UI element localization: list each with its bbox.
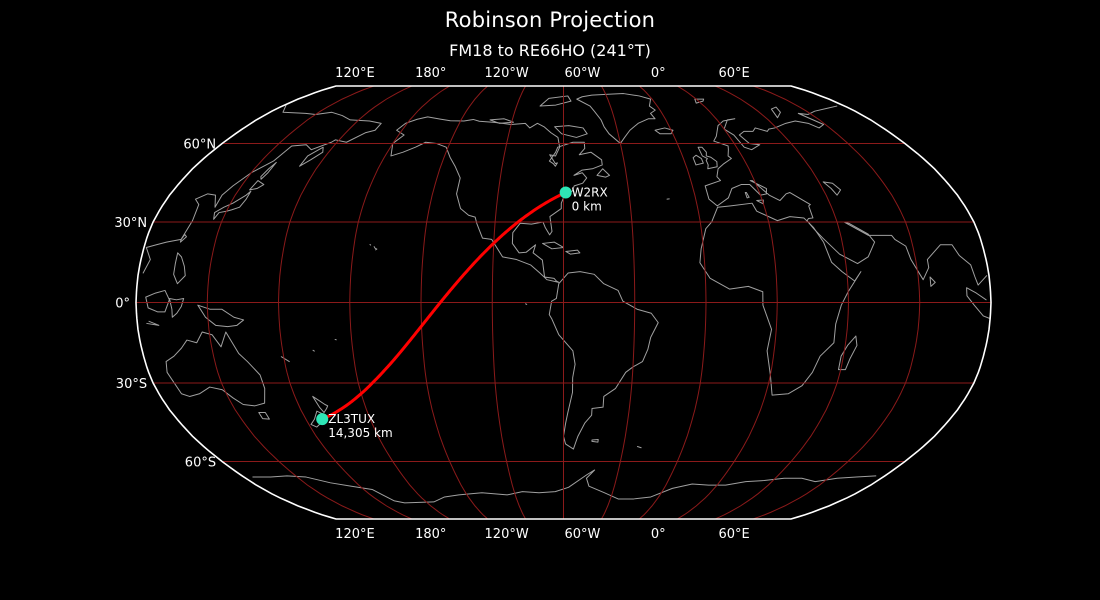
station-distance-label: 0 km	[572, 200, 602, 214]
lat-tick-label: 0°	[115, 297, 130, 312]
lon-tick-label-top: 180°	[415, 66, 446, 81]
lon-tick-label-bottom: 120°W	[485, 527, 529, 542]
station-marker-w2rx[interactable]	[560, 187, 572, 199]
lat-tick-label: 30°S	[116, 377, 147, 392]
lat-tick-label: 60°N	[183, 137, 216, 152]
lon-tick-label-bottom: 120°E	[335, 527, 375, 542]
coastline-segment	[313, 350, 314, 351]
coastline-segment	[370, 245, 371, 246]
lat-tick-label: 30°N	[114, 216, 147, 231]
lon-tick-label-top: 60°W	[565, 66, 601, 81]
lon-tick-label-bottom: 180°	[415, 527, 446, 542]
lon-tick-label-top: 60°E	[719, 66, 750, 81]
station-callsign-label: W2RX	[572, 186, 608, 200]
lon-tick-label-bottom: 0°	[651, 527, 666, 542]
station-distance-label: 14,305 km	[328, 426, 392, 440]
lat-tick-label: 60°S	[185, 456, 216, 471]
lon-tick-label-top: 120°W	[485, 66, 529, 81]
lon-tick-label-top: 0°	[651, 66, 666, 81]
station-callsign-label: ZL3TUX	[328, 412, 375, 426]
coastline-segment	[526, 304, 527, 305]
lon-tick-label-bottom: 60°W	[565, 527, 601, 542]
lon-tick-label-top: 120°E	[335, 66, 375, 81]
station-marker-zl3tux[interactable]	[316, 413, 328, 425]
lon-tick-label-bottom: 60°E	[719, 527, 750, 542]
map-figure: Robinson Projection FM18 to RE66HO (241°…	[0, 0, 1100, 600]
robinson-map: W2RX0 kmZL3TUX14,305 km 60°E60°E120°E120…	[0, 0, 1100, 600]
